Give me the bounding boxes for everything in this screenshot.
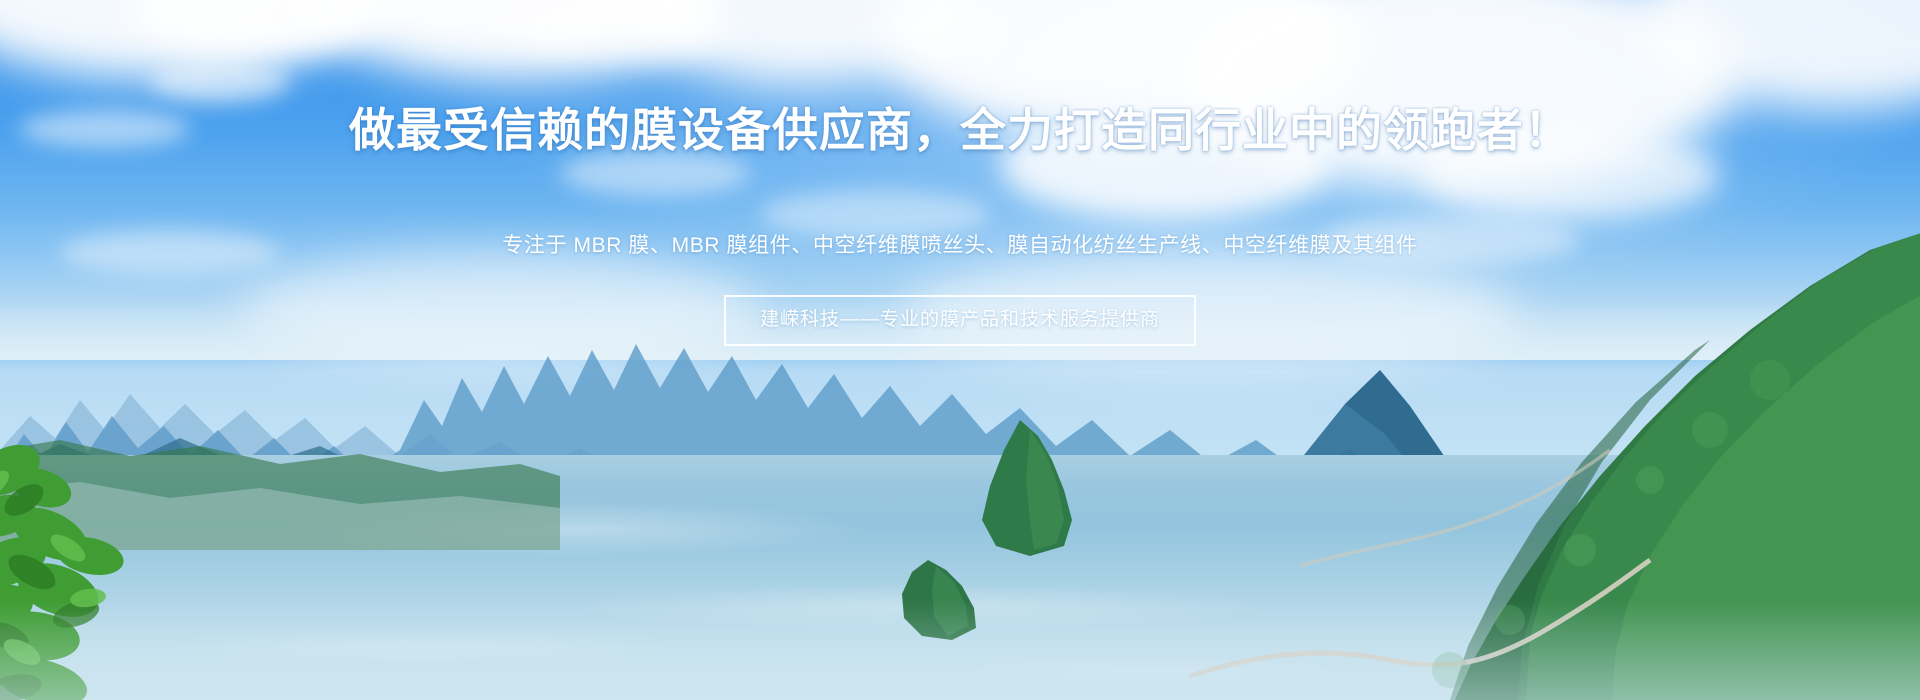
banner-tagline-box: 建嵘科技——专业的膜产品和技术服务提供商 [724, 295, 1196, 346]
banner-subheadline: 专注于 MBR 膜、MBR 膜组件、中空纤维膜喷丝头、膜自动化纺丝生产线、中空纤… [0, 232, 1920, 260]
banner-headline: 做最受信赖的膜设备供应商，全力打造同行业中的领跑者！ [0, 104, 1920, 156]
hero-text-overlay: 做最受信赖的膜设备供应商，全力打造同行业中的领跑者！ 专注于 MBR 膜、MBR… [0, 0, 1920, 700]
tagline-box-wrapper: 建嵘科技——专业的膜产品和技术服务提供商 [0, 295, 1920, 346]
hero-banner: 做最受信赖的膜设备供应商，全力打造同行业中的领跑者！ 专注于 MBR 膜、MBR… [0, 0, 1920, 700]
